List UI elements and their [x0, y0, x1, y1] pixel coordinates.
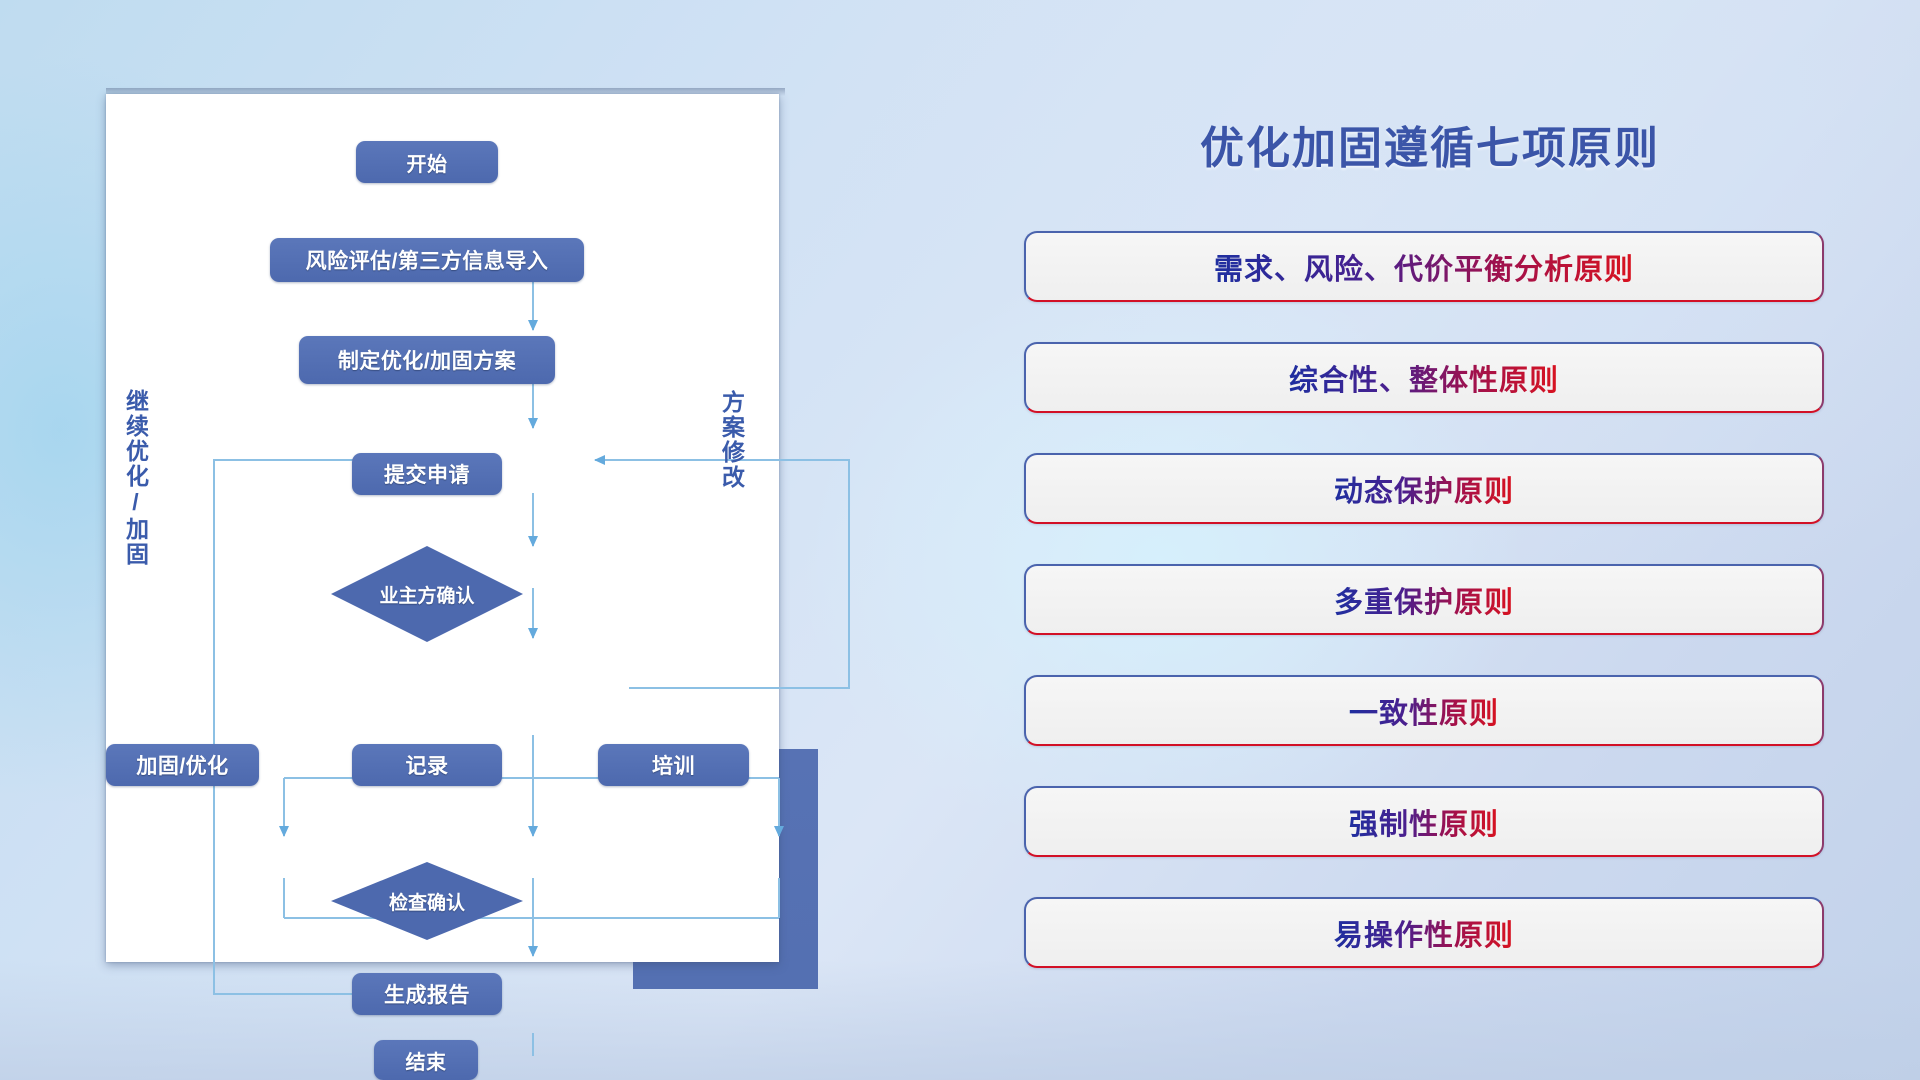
principle-label: 动态保护原则	[1334, 468, 1514, 510]
flow-node-label: 加固/优化	[136, 750, 228, 780]
flow-node-submit[interactable]: 提交申请	[352, 453, 502, 495]
flow-node-label: 制定优化/加固方案	[338, 345, 516, 375]
principle-item-4[interactable]: 多重保护原则	[1024, 564, 1824, 635]
page-title: 优化加固遵循七项原则	[1030, 112, 1830, 176]
flow-node-label: 记录	[406, 750, 449, 780]
flow-node-check-label: 检查确认	[331, 862, 523, 940]
principle-label: 需求、风险、代价平衡分析原则	[1214, 246, 1634, 288]
flowchart-connectors	[212, 188, 885, 1056]
principle-label: 综合性、整体性原则	[1289, 357, 1559, 399]
principles-list: 需求、风险、代价平衡分析原则 综合性、整体性原则 动态保护原则 多重保护原则 一…	[1024, 231, 1824, 968]
flow-node-label: 开始	[407, 148, 448, 177]
flow-node-reinforce[interactable]: 加固/优化	[106, 744, 259, 786]
flow-node-label: 培训	[652, 750, 695, 780]
principle-item-5[interactable]: 一致性原则	[1024, 675, 1824, 746]
flow-node-label: 风险评估/第三方信息导入	[306, 245, 549, 275]
flow-node-label: 结束	[406, 1046, 447, 1075]
flow-node-plan[interactable]: 制定优化/加固方案	[299, 336, 555, 384]
flow-node-end[interactable]: 结束	[374, 1040, 478, 1080]
flow-node-start[interactable]: 开始	[356, 141, 498, 183]
principle-label: 多重保护原则	[1334, 579, 1514, 621]
flow-node-report[interactable]: 生成报告	[352, 973, 502, 1015]
principle-item-1[interactable]: 需求、风险、代价平衡分析原则	[1024, 231, 1824, 302]
flow-edge-right-text: 方案修改	[718, 390, 744, 490]
flow-node-owner-confirm-label: 业主方确认	[331, 546, 523, 642]
flow-node-label: 提交申请	[384, 459, 470, 489]
principle-label: 强制性原则	[1349, 801, 1499, 843]
flow-node-risk-assessment[interactable]: 风险评估/第三方信息导入	[270, 238, 584, 282]
principle-item-3[interactable]: 动态保护原则	[1024, 453, 1824, 524]
principle-label: 易操作性原则	[1334, 912, 1514, 954]
principle-label: 一致性原则	[1349, 690, 1499, 732]
flow-node-training[interactable]: 培训	[598, 744, 749, 786]
flow-edge-left-text: 继续优化/加固	[122, 389, 148, 567]
flow-node-label: 业主方确认	[379, 581, 474, 608]
principle-item-6[interactable]: 强制性原则	[1024, 786, 1824, 857]
principle-item-2[interactable]: 综合性、整体性原则	[1024, 342, 1824, 413]
flowchart-card: 开始 风险评估/第三方信息导入 制定优化/加固方案 提交申请 业主方确认 加固/…	[106, 94, 779, 962]
principle-item-7[interactable]: 易操作性原则	[1024, 897, 1824, 968]
flow-node-record[interactable]: 记录	[352, 744, 502, 786]
flow-edge-label-left: 继续优化/加固	[123, 389, 146, 567]
flow-node-label: 检查确认	[389, 888, 465, 915]
flow-node-label: 生成报告	[384, 979, 470, 1009]
flow-edge-label-right: 方案修改	[719, 390, 742, 490]
